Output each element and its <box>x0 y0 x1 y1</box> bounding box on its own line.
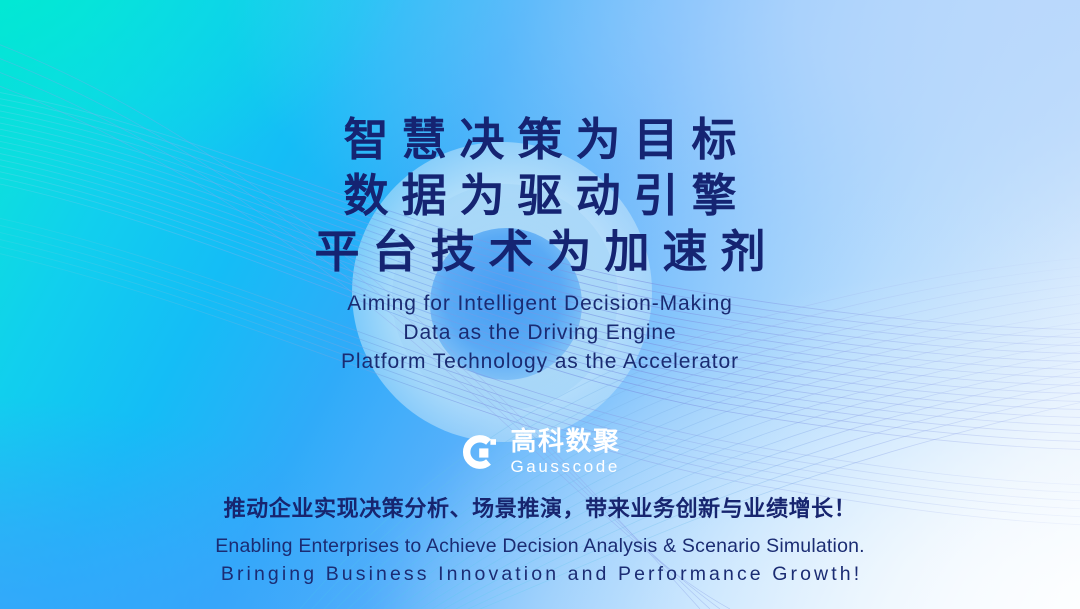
subheadline-line-2: Data as the Driving Engine <box>341 318 739 347</box>
logo-name-chinese: 高科数聚 <box>510 429 620 455</box>
tagline-chinese: 推动企业实现决策分析、场景推演，带来业务创新与业绩增长！ <box>215 495 865 525</box>
logo-wordmark: 高科数聚 Gausscode <box>510 429 620 475</box>
headline-line-1: 智慧决策为目标 <box>301 112 778 168</box>
brand-banner: 智慧决策为目标 数据为驱动引擎 平台技术为加速剂 Aiming for Inte… <box>0 0 1080 609</box>
tagline-block: 推动企业实现决策分析、场景推演，带来业务创新与业绩增长！ Enabling En… <box>215 495 865 587</box>
tagline-english-line-2: Bringing Business Innovation and Perform… <box>215 561 865 587</box>
subheadline-line-1: Aiming for Intelligent Decision-Making <box>341 289 739 318</box>
banner-content: 智慧决策为目标 数据为驱动引擎 平台技术为加速剂 Aiming for Inte… <box>0 0 1080 609</box>
subheadline-line-3: Platform Technology as the Accelerator <box>341 347 739 376</box>
headline-line-3: 平台技术为加速剂 <box>301 224 778 280</box>
brand-logo: 高科数聚 Gausscode <box>459 429 620 475</box>
gausscode-logo-mark <box>459 432 499 472</box>
subheadline-english: Aiming for Intelligent Decision-Making D… <box>341 289 739 376</box>
tagline-english-line-1: Enabling Enterprises to Achieve Decision… <box>215 533 865 559</box>
logo-name-english: Gausscode <box>510 458 620 475</box>
headline-line-2: 数据为驱动引擎 <box>301 168 778 224</box>
headline-chinese: 智慧决策为目标 数据为驱动引擎 平台技术为加速剂 <box>301 112 778 280</box>
